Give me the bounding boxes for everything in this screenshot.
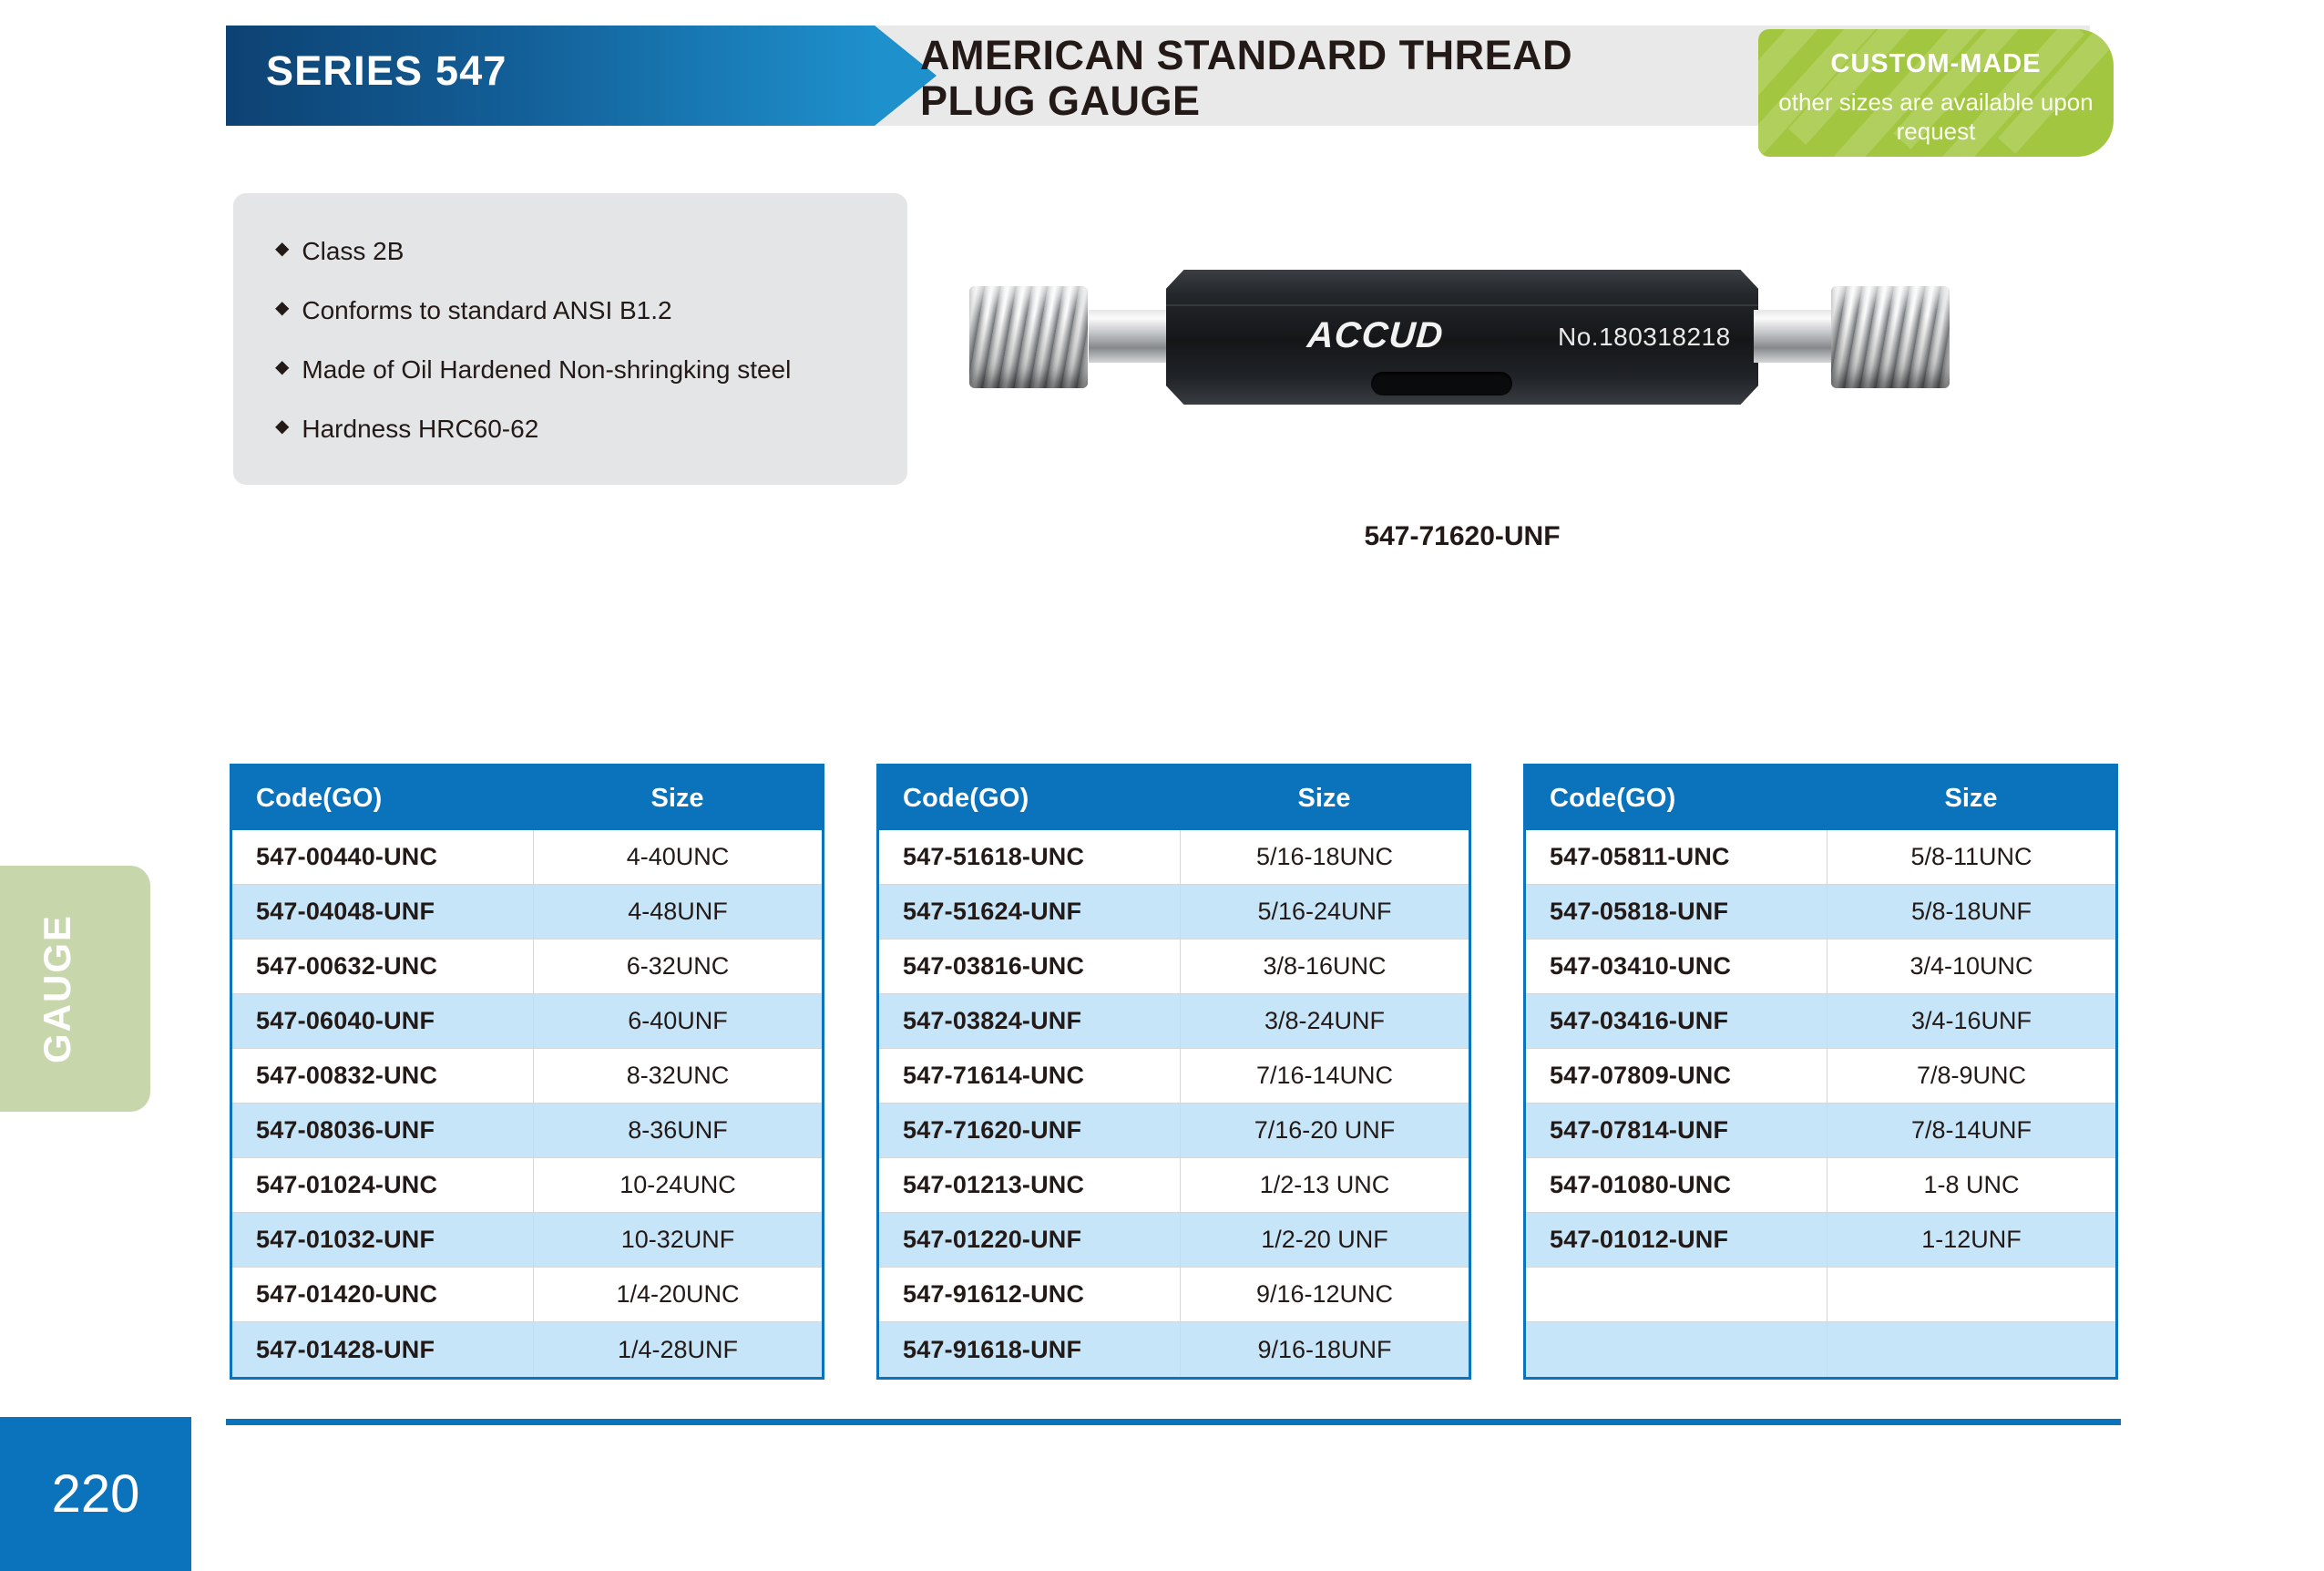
cell-size: 3/4-16UNF: [1827, 994, 2115, 1048]
table-row[interactable]: 547-03410-UNC3/4-10UNC: [1526, 940, 2115, 994]
cell-size: [1827, 1268, 2115, 1321]
cell-code: 547-71620-UNF: [879, 1104, 1180, 1157]
serial-label: No.180318218: [1558, 323, 1731, 352]
badge-title: CUSTOM-MADE: [1758, 49, 2114, 79]
diamond-bullet-icon: ◆: [275, 237, 289, 262]
table-row[interactable]: 547-71614-UNC7/16-14UNC: [879, 1049, 1469, 1104]
page-title: AMERICAN STANDARD THREAD PLUG GAUGE: [920, 33, 1740, 123]
cell-code: 547-71614-UNC: [879, 1049, 1180, 1103]
cell-size: 9/16-18UNF: [1180, 1322, 1469, 1377]
column-header-size: Size: [533, 766, 822, 830]
table-row[interactable]: 547-01428-UNF1/4-28UNF: [232, 1322, 822, 1377]
thread-end-left-icon: [969, 286, 1088, 388]
cell-code: 547-51624-UNF: [879, 885, 1180, 939]
table-row[interactable]: 547-91612-UNC9/16-12UNC: [879, 1268, 1469, 1322]
gauge-handle: ACCUD No.180318218: [1166, 270, 1758, 405]
table-row-empty[interactable]: [1526, 1322, 2115, 1377]
footer-rule: [226, 1419, 2121, 1425]
table-header-row: Code(GO) Size: [1526, 766, 2115, 830]
brand-label: ACCUD: [1305, 315, 1445, 356]
product-caption: 547-71620-UNF: [957, 521, 1968, 552]
table-row[interactable]: 547-05818-UNF5/8-18UNF: [1526, 885, 2115, 940]
cell-size: 5/16-24UNF: [1180, 885, 1469, 939]
cell-size: 7/16-20 UNF: [1180, 1104, 1469, 1157]
cell-code: 547-01012-UNF: [1526, 1213, 1827, 1267]
table-row[interactable]: 547-06040-UNF6-40UNF: [232, 994, 822, 1049]
cell-code: 547-03410-UNC: [1526, 940, 1827, 993]
side-tab-label: GAUGE: [36, 914, 79, 1063]
handle-slot: [1371, 372, 1512, 395]
cell-code: 547-05818-UNF: [1526, 885, 1827, 939]
feature-item: ◆ Conforms to standard ANSI B1.2: [275, 296, 791, 325]
spec-table-1: Code(GO) Size 547-00440-UNC4-40UNC 547-0…: [230, 764, 824, 1380]
cell-size: 4-48UNF: [533, 885, 822, 939]
table-row[interactable]: 547-00832-UNC8-32UNC: [232, 1049, 822, 1104]
cell-code: 547-00632-UNC: [232, 940, 533, 993]
spec-table-3: Code(GO) Size 547-05811-UNC5/8-11UNC 547…: [1523, 764, 2118, 1380]
table-row[interactable]: 547-01220-UNF1/2-20 UNF: [879, 1213, 1469, 1268]
feature-text: Conforms to standard ANSI B1.2: [302, 296, 671, 325]
cell-size: 1/2-13 UNC: [1180, 1158, 1469, 1212]
cell-code: 547-01032-UNF: [232, 1213, 533, 1267]
cell-size: 7/8-14UNF: [1827, 1104, 2115, 1157]
diamond-bullet-icon: ◆: [275, 296, 289, 321]
table-row[interactable]: 547-51618-UNC5/16-18UNC: [879, 830, 1469, 885]
shank-left: [1089, 310, 1171, 363]
cell-code: 547-03416-UNF: [1526, 994, 1827, 1048]
page-number-badge: 220: [0, 1417, 191, 1571]
table-row[interactable]: 547-08036-UNF8-36UNF: [232, 1104, 822, 1158]
cell-size: 1-8 UNC: [1827, 1158, 2115, 1212]
feature-item: ◆ Hardness HRC60-62: [275, 415, 791, 444]
cell-size: 8-36UNF: [533, 1104, 822, 1157]
cell-size: 6-40UNF: [533, 994, 822, 1048]
table-row[interactable]: 547-05811-UNC5/8-11UNC: [1526, 830, 2115, 885]
side-tab-gauge[interactable]: GAUGE: [0, 866, 150, 1112]
feature-text: Made of Oil Hardened Non-shringking stee…: [302, 355, 791, 385]
cell-size: 4-40UNC: [533, 830, 822, 884]
cell-size: 9/16-12UNC: [1180, 1268, 1469, 1321]
page-number: 220: [52, 1463, 140, 1525]
table-row[interactable]: 547-03416-UNF3/4-16UNF: [1526, 994, 2115, 1049]
cell-code: 547-51618-UNC: [879, 830, 1180, 884]
column-header-size: Size: [1827, 766, 2115, 830]
cell-code: 547-01428-UNF: [232, 1322, 533, 1377]
cell-size: 1/4-28UNF: [533, 1322, 822, 1377]
cell-code: 547-04048-UNF: [232, 885, 533, 939]
table-row[interactable]: 547-07809-UNC7/8-9UNC: [1526, 1049, 2115, 1104]
feature-item: ◆ Class 2B: [275, 237, 791, 266]
table-row[interactable]: 547-00440-UNC4-40UNC: [232, 830, 822, 885]
cell-code: 547-01213-UNC: [879, 1158, 1180, 1212]
features-panel: ◆ Class 2B ◆ Conforms to standard ANSI B…: [233, 193, 907, 485]
cell-size: 3/4-10UNC: [1827, 940, 2115, 993]
table-row[interactable]: 547-01420-UNC1/4-20UNC: [232, 1268, 822, 1322]
table-row[interactable]: 547-51624-UNF5/16-24UNF: [879, 885, 1469, 940]
cell-code: 547-91612-UNC: [879, 1268, 1180, 1321]
column-header-size: Size: [1180, 766, 1469, 830]
cell-size: 5/16-18UNC: [1180, 830, 1469, 884]
series-label: SERIES 547: [266, 47, 507, 95]
cell-size: 3/8-24UNF: [1180, 994, 1469, 1048]
column-header-code: Code(GO): [879, 766, 1180, 830]
cell-code: [1526, 1268, 1827, 1321]
cell-code: 547-07809-UNC: [1526, 1049, 1827, 1103]
cell-code: 547-01024-UNC: [232, 1158, 533, 1212]
cell-size: 1-12UNF: [1827, 1213, 2115, 1267]
page-title-line1: AMERICAN STANDARD THREAD: [920, 32, 1572, 78]
table-row[interactable]: 547-01213-UNC1/2-13 UNC: [879, 1158, 1469, 1213]
badge-subtitle: other sizes are available upon request: [1758, 88, 2114, 146]
cell-size: 1/2-20 UNF: [1180, 1213, 1469, 1267]
cell-code: 547-03816-UNC: [879, 940, 1180, 993]
diamond-bullet-icon: ◆: [275, 415, 289, 439]
table-row[interactable]: 547-03816-UNC3/8-16UNC: [879, 940, 1469, 994]
table-row[interactable]: 547-01024-UNC10-24UNC: [232, 1158, 822, 1213]
table-header-row: Code(GO) Size: [232, 766, 822, 830]
feature-text: Hardness HRC60-62: [302, 415, 538, 444]
table-header-row: Code(GO) Size: [879, 766, 1469, 830]
table-row[interactable]: 547-07814-UNF7/8-14UNF: [1526, 1104, 2115, 1158]
cell-code: 547-06040-UNF: [232, 994, 533, 1048]
table-row[interactable]: 547-01080-UNC1-8 UNC: [1526, 1158, 2115, 1213]
column-header-code: Code(GO): [1526, 766, 1827, 830]
cell-code: 547-07814-UNF: [1526, 1104, 1827, 1157]
cell-code: 547-05811-UNC: [1526, 830, 1827, 884]
diamond-bullet-icon: ◆: [275, 355, 289, 380]
column-header-code: Code(GO): [232, 766, 533, 830]
cell-code: 547-03824-UNF: [879, 994, 1180, 1048]
cell-size: 5/8-11UNC: [1827, 830, 2115, 884]
thread-end-right-icon: [1831, 286, 1950, 388]
spec-table-2: Code(GO) Size 547-51618-UNC5/16-18UNC 54…: [876, 764, 1471, 1380]
table-row[interactable]: 547-01012-UNF1-12UNF: [1526, 1213, 2115, 1268]
cell-size: 3/8-16UNC: [1180, 940, 1469, 993]
table-row[interactable]: 547-71620-UNF7/16-20 UNF: [879, 1104, 1469, 1158]
cell-size: 1/4-20UNC: [533, 1268, 822, 1321]
cell-size: 6-32UNC: [533, 940, 822, 993]
cell-code: 547-00832-UNC: [232, 1049, 533, 1103]
cell-size: 7/8-9UNC: [1827, 1049, 2115, 1103]
shank-right: [1754, 310, 1836, 363]
cell-size: 8-32UNC: [533, 1049, 822, 1103]
custom-made-badge: CUSTOM-MADE other sizes are available up…: [1758, 29, 2114, 157]
product-photo: ACCUD No.180318218: [957, 248, 1968, 426]
catalog-page: SERIES 547 AMERICAN STANDARD THREAD PLUG…: [0, 0, 2324, 1571]
table-row[interactable]: 547-01032-UNF10-32UNF: [232, 1213, 822, 1268]
page-title-line2: PLUG GAUGE: [920, 78, 1740, 124]
table-row[interactable]: 547-04048-UNF4-48UNF: [232, 885, 822, 940]
cell-code: 547-01220-UNF: [879, 1213, 1180, 1267]
cell-size: [1827, 1322, 2115, 1377]
cell-code: 547-01420-UNC: [232, 1268, 533, 1321]
cell-code: 547-08036-UNF: [232, 1104, 533, 1157]
cell-code: 547-01080-UNC: [1526, 1158, 1827, 1212]
feature-text: Class 2B: [302, 237, 404, 266]
cell-size: 10-24UNC: [533, 1158, 822, 1212]
cell-code: 547-00440-UNC: [232, 830, 533, 884]
cell-size: 10-32UNF: [533, 1213, 822, 1267]
cell-code: 547-91618-UNF: [879, 1322, 1180, 1377]
cell-size: 5/8-18UNF: [1827, 885, 2115, 939]
features-list: ◆ Class 2B ◆ Conforms to standard ANSI B…: [275, 237, 791, 474]
table-row[interactable]: 547-03824-UNF3/8-24UNF: [879, 994, 1469, 1049]
table-row[interactable]: 547-91618-UNF9/16-18UNF: [879, 1322, 1469, 1377]
cell-size: 7/16-14UNC: [1180, 1049, 1469, 1103]
table-row-empty[interactable]: [1526, 1268, 2115, 1322]
feature-item: ◆ Made of Oil Hardened Non-shringking st…: [275, 355, 791, 385]
table-row[interactable]: 547-00632-UNC6-32UNC: [232, 940, 822, 994]
cell-code: [1526, 1322, 1827, 1377]
